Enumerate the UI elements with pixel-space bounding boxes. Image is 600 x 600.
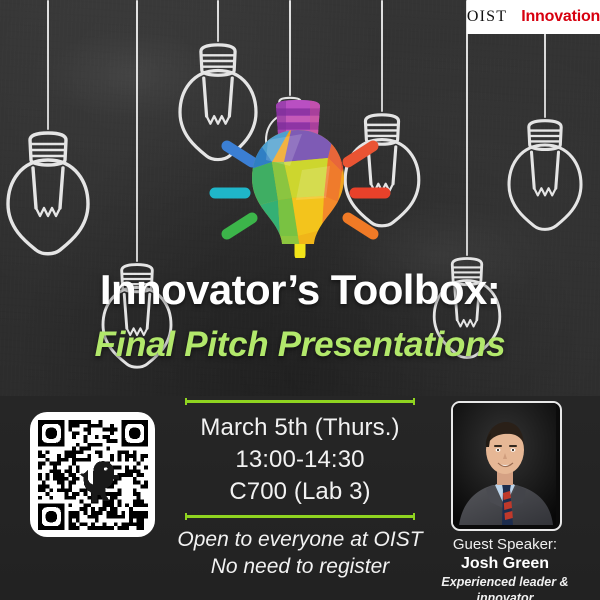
lightbulb-chalk-icon (504, 0, 587, 233)
bulb-outline (2, 130, 94, 258)
event-details: March 5th (Thurs.) 13:00-14:30 C700 (Lab… (168, 400, 432, 580)
event-note-line2: No need to register (168, 553, 432, 580)
bulb-cord (289, 0, 291, 96)
page-subtitle: Final Pitch Presentations (0, 325, 600, 365)
lightbulb-color-icon (232, 100, 364, 248)
bulb-cord (47, 0, 49, 130)
speaker-portrait-icon (453, 403, 556, 525)
speaker-caption: Guest Speaker: Josh Green Experienced le… (420, 536, 590, 600)
avatar (451, 401, 562, 531)
bulb-cord (466, 0, 468, 256)
event-date: March 5th (Thurs.) (168, 412, 432, 444)
bulb-cord (136, 0, 138, 262)
lightbulb-chalk-icon (98, 0, 176, 371)
speaker-name: Josh Green (420, 554, 590, 574)
event-location: C700 (Lab 3) (168, 476, 432, 508)
event-poster: Innovator’s Toolbox: Final Pitch Present… (0, 0, 600, 600)
qr-code-icon[interactable] (30, 412, 155, 537)
qr-code-matrix (38, 420, 148, 530)
bulb-outline (504, 118, 587, 233)
event-time: 13:00-14:30 (168, 444, 432, 476)
logo-innovation-text: Innovation (521, 8, 600, 26)
lightbulb-chalk-icon (2, 0, 94, 258)
logo-oist-text: OIST (467, 8, 507, 26)
speaker-tagline: Experienced leader & innovator (420, 574, 590, 600)
bulb-cord (217, 0, 219, 42)
page-title: Innovator’s Toolbox: (0, 266, 600, 314)
oist-innovation-logo: OIST Innovation (467, 0, 600, 34)
divider-top (185, 400, 415, 403)
bulb-cord (381, 0, 383, 112)
speaker-role: Guest Speaker: (420, 536, 590, 554)
divider-bottom (185, 515, 415, 518)
event-note-line1: Open to everyone at OIST (168, 526, 432, 553)
